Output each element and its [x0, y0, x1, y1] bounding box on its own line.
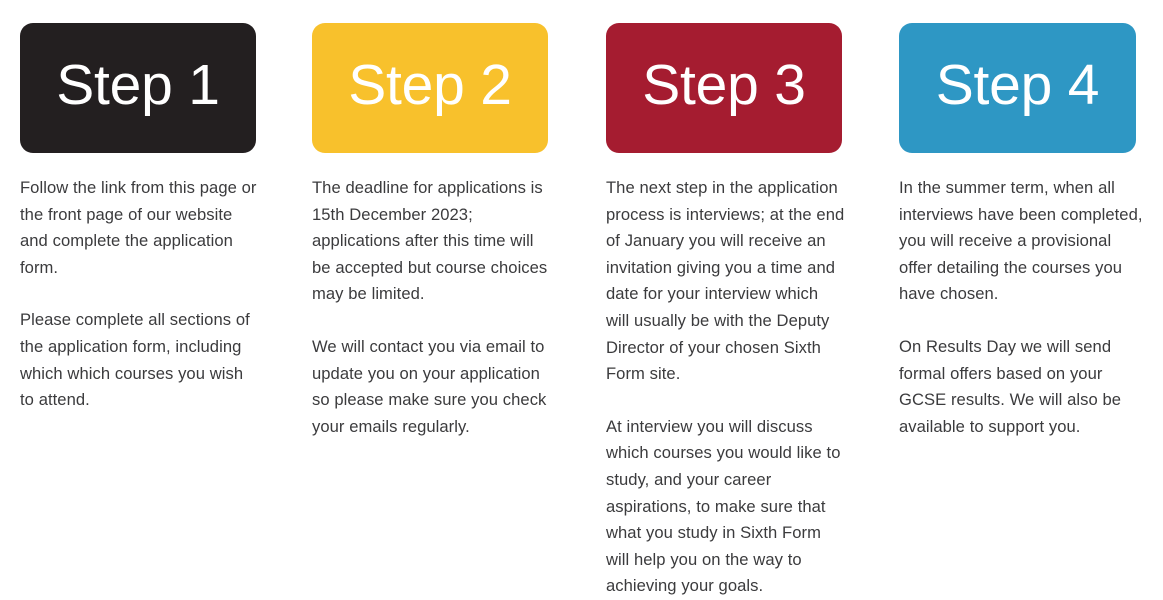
step-paragraph: In the summer term, when all interviews … — [899, 175, 1145, 308]
step-badge-label-4: Step 4 — [936, 57, 1100, 119]
step-paragraph: On Results Day we will send formal offer… — [899, 334, 1145, 440]
step-badge-label-2: Step 2 — [348, 57, 512, 119]
step-body-1: Follow the link from this page or the fr… — [20, 175, 260, 414]
step-badge-3: Step 3 — [606, 23, 842, 153]
step-column-1: Step 1 Follow the link from this page or… — [0, 0, 296, 574]
step-paragraph: Please complete all sections of the appl… — [20, 307, 260, 413]
step-badge-4: Step 4 — [899, 23, 1136, 153]
step-paragraph: Follow the link from this page or the fr… — [20, 175, 260, 281]
step-column-4: Step 4 In the summer term, when all inte… — [886, 0, 1163, 574]
step-column-3: Step 3 The next step in the application … — [591, 0, 886, 574]
step-column-2: Step 2 The deadline for applications is … — [296, 0, 591, 574]
step-body-3: The next step in the application process… — [606, 175, 846, 600]
step-badge-label-3: Step 3 — [642, 57, 806, 119]
step-paragraph: At interview you will discuss which cour… — [606, 414, 846, 600]
step-body-2: The deadline for applications is 15th De… — [312, 175, 550, 440]
step-badge-label-1: Step 1 — [56, 57, 220, 119]
step-badge-1: Step 1 — [20, 23, 256, 153]
steps-row: Step 1 Follow the link from this page or… — [0, 0, 1163, 574]
step-paragraph: The next step in the application process… — [606, 175, 846, 388]
step-paragraph: We will contact you via email to update … — [312, 334, 550, 440]
step-paragraph: The deadline for applications is 15th De… — [312, 175, 550, 308]
application-steps-infographic: Step 1 Follow the link from this page or… — [0, 0, 1163, 574]
step-badge-2: Step 2 — [312, 23, 548, 153]
step-body-4: In the summer term, when all interviews … — [899, 175, 1145, 440]
